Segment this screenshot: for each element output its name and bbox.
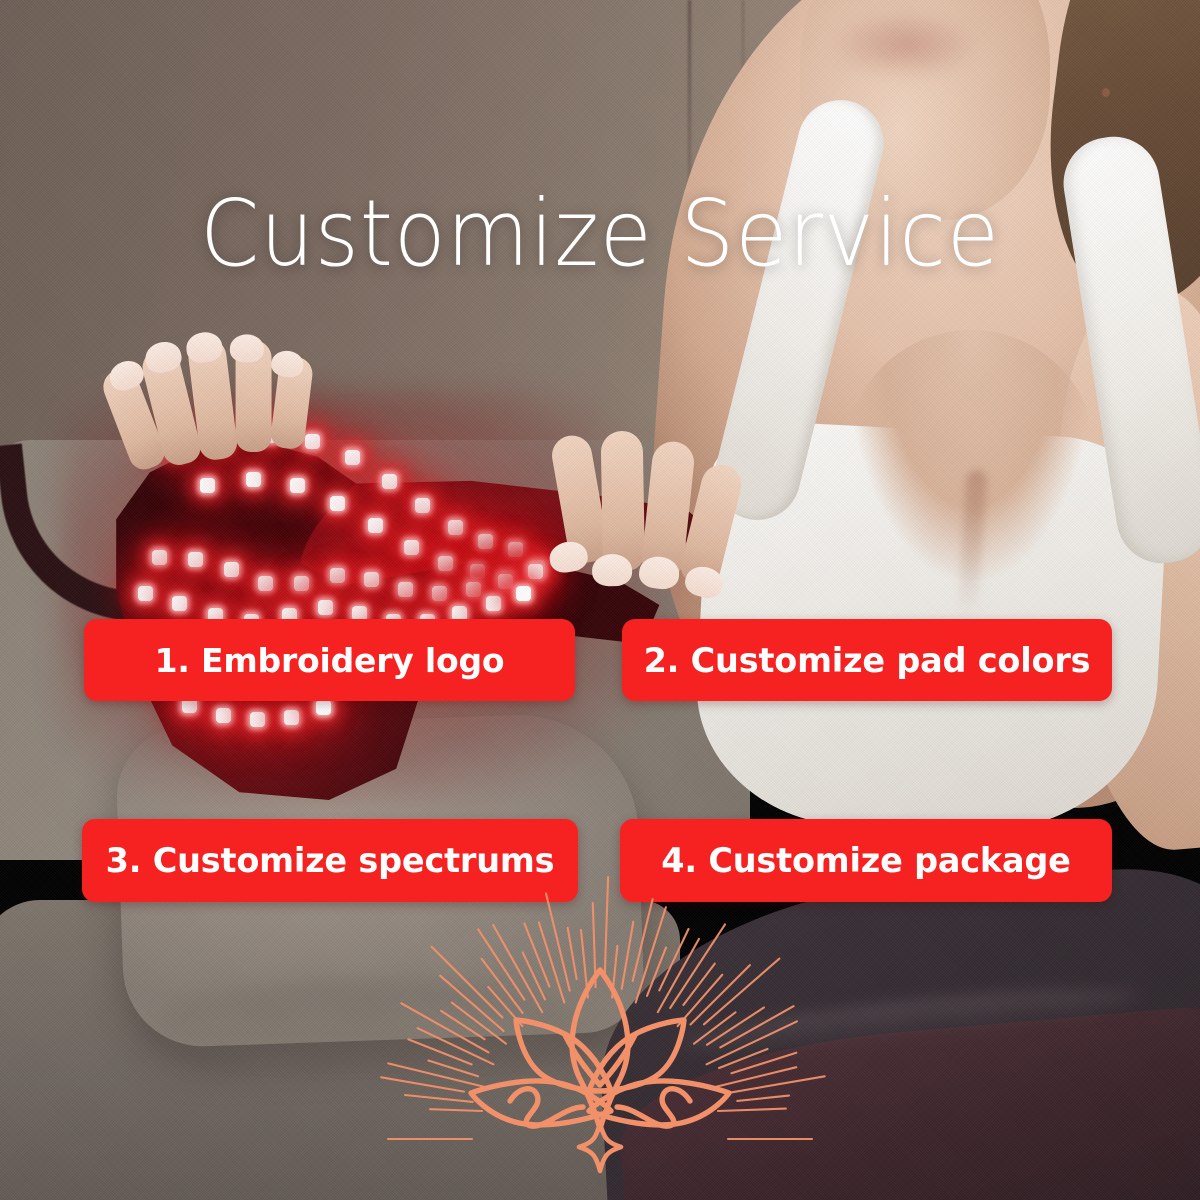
pad-led-dot xyxy=(294,576,309,591)
marketing-banner: Customize Service 1. Embroidery logo 2. … xyxy=(0,0,1200,1200)
pad-led-dot xyxy=(368,518,383,533)
pad-led-dot xyxy=(345,450,360,465)
pad-led-dot xyxy=(404,540,419,555)
pad-led-dot xyxy=(172,596,187,611)
model-left-hand xyxy=(86,305,335,486)
pad-led-dot xyxy=(330,496,345,511)
pad-led-dot xyxy=(364,572,379,587)
pad-led-dot xyxy=(224,562,239,577)
model-neck-shadow xyxy=(830,10,980,80)
lotus-petals-icon xyxy=(471,970,729,1129)
pad-led-dot xyxy=(200,478,215,493)
pad-led-dot xyxy=(382,474,397,489)
badge-customize-spectrums[interactable]: 3. Customize spectrums xyxy=(82,819,578,902)
pad-led-dot xyxy=(258,576,273,591)
pad-led-dot xyxy=(498,574,513,589)
pad-led-dot xyxy=(188,552,203,567)
page-title: Customize Service xyxy=(48,186,1152,283)
sparkle-star-icon xyxy=(579,1123,621,1171)
pad-led-dot xyxy=(330,568,345,583)
badge-customize-pad-colors[interactable]: 2. Customize pad colors xyxy=(622,619,1112,701)
skin-mole xyxy=(1102,88,1110,97)
pad-led-dot xyxy=(466,582,481,597)
pad-led-dot xyxy=(284,710,299,725)
pad-led-dot xyxy=(246,472,261,487)
pad-led-dot xyxy=(250,712,265,727)
pad-led-dot xyxy=(478,534,493,549)
pad-led-dot xyxy=(152,550,167,565)
pad-led-dot xyxy=(516,586,531,601)
pad-led-dot xyxy=(398,582,413,597)
pad-led-dot xyxy=(415,498,430,513)
pad-led-dot xyxy=(216,708,231,723)
pad-led-dot xyxy=(138,586,153,601)
pad-led-dot xyxy=(470,564,485,579)
pad-led-dot xyxy=(318,600,333,615)
badge-embroidery-logo[interactable]: 1. Embroidery logo xyxy=(84,619,575,701)
badge-customize-package[interactable]: 4. Customize package xyxy=(620,819,1112,902)
pad-led-dot xyxy=(486,596,501,611)
pad-led-dot xyxy=(528,564,543,579)
badge-label: 1. Embroidery logo xyxy=(155,641,505,680)
pad-led-dot xyxy=(508,542,523,557)
badge-label: 2. Customize pad colors xyxy=(644,641,1091,680)
lotus-sunburst-logo xyxy=(415,915,785,1180)
badge-label: 3. Customize spectrums xyxy=(106,841,555,880)
pad-led-dot xyxy=(316,700,331,715)
pad-led-dot xyxy=(432,586,447,601)
pad-led-dot xyxy=(290,478,305,493)
badge-label: 4. Customize package xyxy=(661,841,1070,880)
pad-led-dot xyxy=(438,556,453,571)
pad-led-dot xyxy=(448,520,463,535)
